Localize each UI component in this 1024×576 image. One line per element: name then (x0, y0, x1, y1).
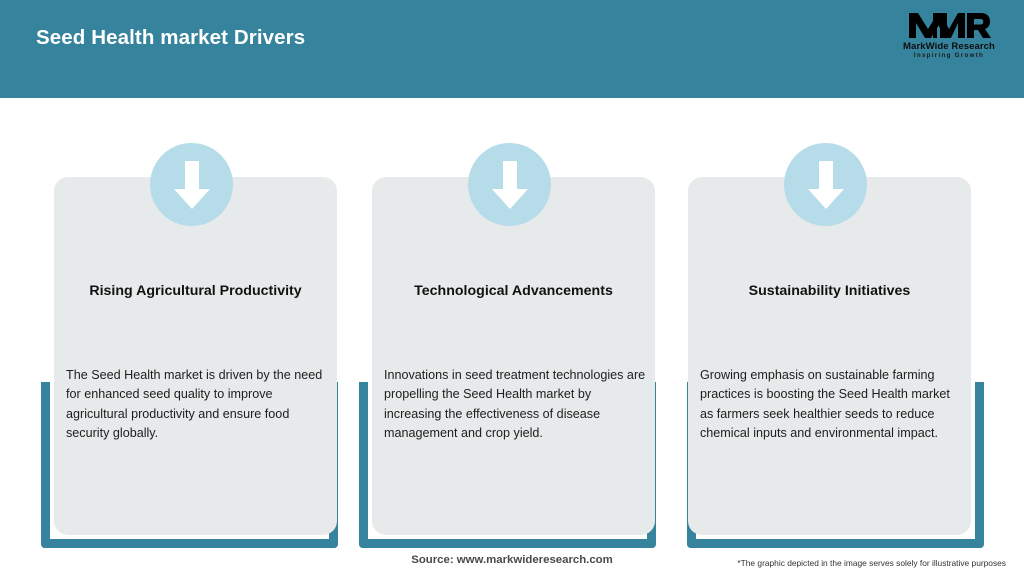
card-title-2: Technological Advancements (388, 281, 639, 302)
card-body-1: The Seed Health market is driven by the … (66, 366, 328, 444)
arrow-down-icon-3 (784, 143, 867, 226)
driver-card-2: Technological Advancements Innovations i… (359, 143, 675, 549)
drivers-card-row: Rising Agricultural Productivity The See… (0, 0, 1024, 576)
disclaimer-note: *The graphic depicted in the image serve… (737, 558, 1006, 568)
card-body-3: Growing emphasis on sustainable farming … (700, 366, 962, 444)
card-body-2: Innovations in seed treatment technologi… (384, 366, 646, 444)
arrow-down-glyph (488, 159, 532, 211)
card-title-1: Rising Agricultural Productivity (70, 281, 321, 302)
arrow-down-glyph (170, 159, 214, 211)
card-panel-1: Rising Agricultural Productivity The See… (54, 177, 337, 535)
card-title-3: Sustainability Initiatives (704, 281, 955, 302)
driver-card-1: Rising Agricultural Productivity The See… (41, 143, 357, 549)
arrow-down-glyph (804, 159, 848, 211)
arrow-down-icon-1 (150, 143, 233, 226)
card-panel-2: Technological Advancements Innovations i… (372, 177, 655, 535)
driver-card-3: Sustainability Initiatives Growing empha… (673, 143, 989, 549)
card-panel-3: Sustainability Initiatives Growing empha… (688, 177, 971, 535)
arrow-down-icon-2 (468, 143, 551, 226)
